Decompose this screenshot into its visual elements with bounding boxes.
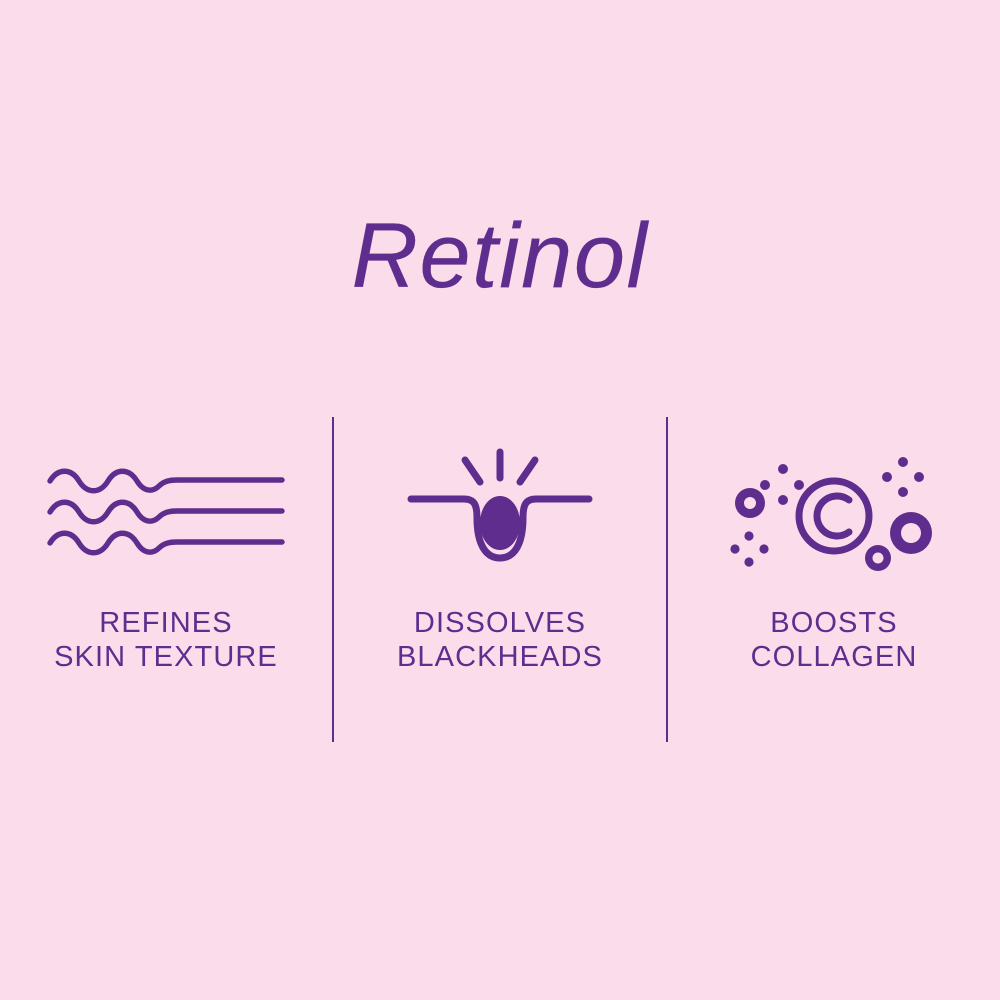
- benefit-column-dissolves-blackheads: DISSOLVES BLACKHEADS: [334, 417, 666, 742]
- benefit-column-refines-skin-texture: REFINES SKIN TEXTURE: [0, 417, 332, 742]
- page-title: Retinol: [0, 208, 1000, 305]
- benefit-label-2: DISSOLVES BLACKHEADS: [397, 607, 603, 674]
- poster-canvas: Retinol REFINES SKIN TEXTURE: [0, 0, 1000, 1000]
- wavy-to-straight-lines-icon: [46, 464, 286, 560]
- benefit-icon-container-1: [0, 417, 332, 607]
- pore-blackhead-icon: [407, 448, 593, 576]
- page-title-container: Retinol: [0, 208, 1000, 305]
- benefit-label-3: BOOSTS COLLAGEN: [751, 607, 918, 674]
- collagen-c-circle-icon: [731, 456, 937, 568]
- benefit-icon-container-3: [668, 417, 1000, 607]
- benefit-column-boosts-collagen: BOOSTS COLLAGEN: [668, 417, 1000, 742]
- benefit-label-1: REFINES SKIN TEXTURE: [54, 607, 278, 674]
- benefits-row: REFINES SKIN TEXTURE: [0, 417, 1000, 742]
- benefit-icon-container-2: [334, 417, 666, 607]
